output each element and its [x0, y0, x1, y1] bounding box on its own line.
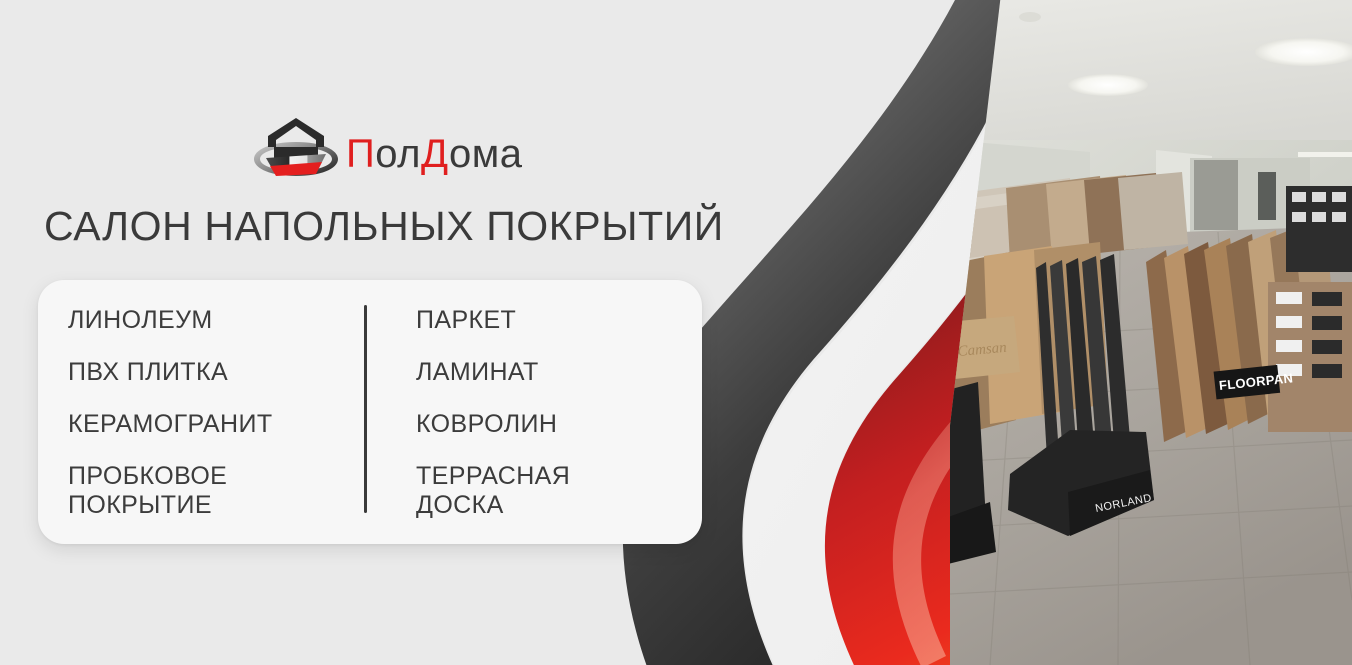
page-title: САЛОН НАПОЛЬНЫХ ПОКРЫТИЙ: [44, 203, 724, 250]
categories-column-left: ЛИНОЛЕУМ ПВХ ПЛИТКА КЕРАМОГРАНИТ ПРОБКОВ…: [38, 280, 364, 544]
category-item[interactable]: ПАРКЕТ: [416, 306, 690, 335]
category-item[interactable]: ПРОБКОВОЕ ПОКРЫТИЕ: [68, 462, 364, 520]
brand-name-part-4: ома: [449, 132, 523, 176]
category-item[interactable]: ЛИНОЛЕУМ: [68, 306, 364, 335]
brand-name-part-3: Д: [421, 132, 449, 176]
brand-wordmark: ПолДома: [346, 134, 523, 174]
showroom-photo: NORLAND: [950, 0, 1352, 665]
category-item[interactable]: ТЕРРАСНАЯ ДОСКА: [416, 462, 690, 520]
promo-banner: NORLAND: [0, 0, 1352, 665]
categories-card: ЛИНОЛЕУМ ПВХ ПЛИТКА КЕРАМОГРАНИТ ПРОБКОВ…: [38, 280, 702, 544]
category-item[interactable]: КОВРОЛИН: [416, 410, 690, 439]
categories-column-right: ПАРКЕТ ЛАМИНАТ КОВРОЛИН ТЕРРАСНАЯ ДОСКА: [364, 280, 690, 544]
category-item[interactable]: ЛАМИНАТ: [416, 358, 690, 387]
brand-name-part-1: П: [346, 132, 375, 176]
house-roof-logo-icon: [252, 114, 340, 184]
left-content: ПолДома САЛОН НАПОЛЬНЫХ ПОКРЫТИЙ ЛИНОЛЕУ…: [0, 0, 720, 665]
column-divider: [364, 305, 367, 513]
brand-name-part-2: ол: [375, 132, 421, 176]
category-item[interactable]: ПВХ ПЛИТКА: [68, 358, 364, 387]
category-item[interactable]: КЕРАМОГРАНИТ: [68, 410, 364, 439]
brand-logo[interactable]: ПолДома: [252, 114, 523, 184]
